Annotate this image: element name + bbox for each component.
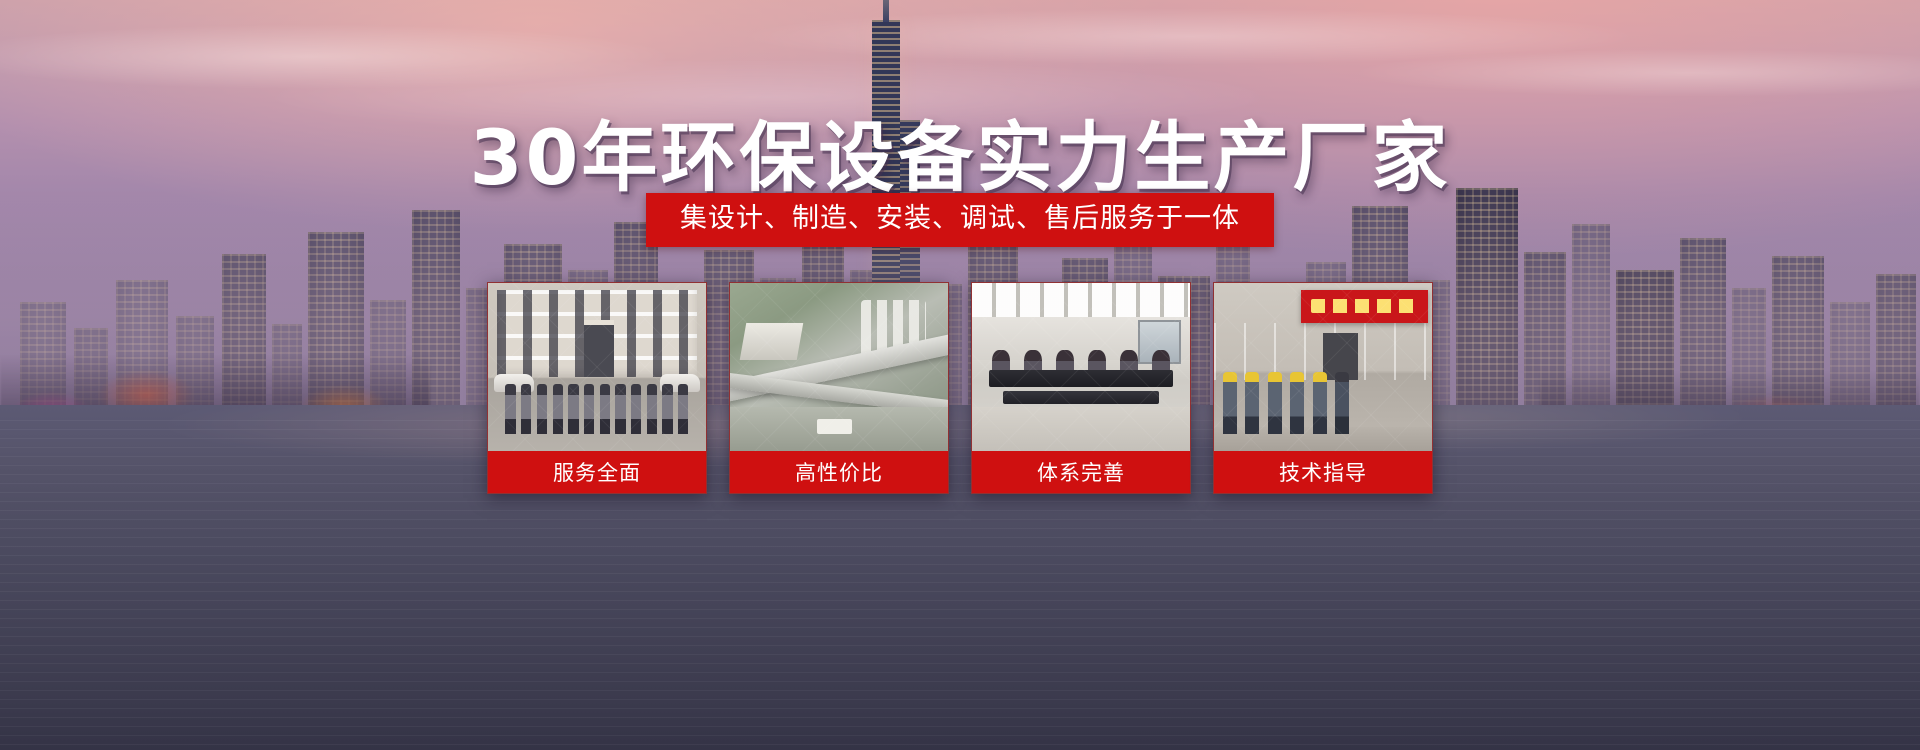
feature-card[interactable]: 服务全面 [487,282,707,494]
office-building-staff-photo [488,283,706,451]
feature-card[interactable]: 体系完善 [971,282,1191,494]
hero-banner: 30年环保设备实力生产厂家 集设计、制造、安装、调试、售后服务于一体 [0,0,1920,750]
feature-card-caption: 高性价比 [730,451,948,493]
feature-card[interactable]: 高性价比 [729,282,949,494]
feature-card[interactable]: 技术指导 [1213,282,1433,494]
subtitle-container: 集设计、制造、安装、调试、售后服务于一体 [0,193,1920,247]
subtitle-badge: 集设计、制造、安装、调试、售后服务于一体 [646,193,1274,247]
feature-card-caption: 技术指导 [1214,451,1432,493]
page-title: 30年环保设备实力生产厂家 [0,96,1920,206]
feature-card-caption: 服务全面 [488,451,706,493]
feature-card-caption: 体系完善 [972,451,1190,493]
office-interior-team-photo [972,283,1190,451]
feature-card-list: 服务全面 高性价比 [0,282,1920,494]
aerial-industrial-plant-photo [730,283,948,451]
factory-workers-training-photo [1214,283,1432,451]
